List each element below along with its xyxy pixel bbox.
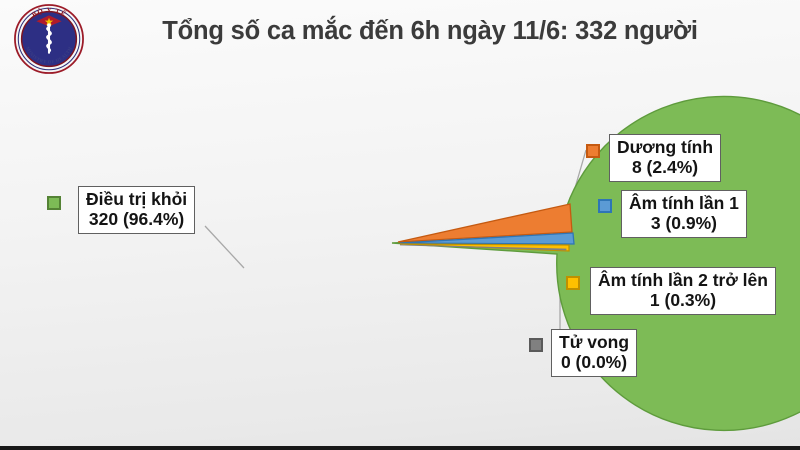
legend-swatch-tu-vong [529, 338, 543, 352]
chart-screenshot: BỘ Y TẾ MINISTRY OF HEALTH Tổng số ca mắ… [0, 0, 800, 450]
callout-value-am-tinh-lan-1: 3 (0.9%) [629, 213, 739, 233]
callout-value-tu-vong: 0 (0.0%) [559, 352, 629, 372]
callout-label-duong-tinh: Dương tính [617, 137, 713, 157]
legend-swatch-dieu-tri-khoi [47, 196, 61, 210]
callout-value-dieu-tri-khoi: 320 (96.4%) [86, 209, 187, 229]
callout-value-am-tinh-lan-2: 1 (0.3%) [598, 290, 768, 310]
callout-am-tinh-lan-1[interactable]: Âm tính lần 1 3 (0.9%) [621, 190, 747, 238]
callout-am-tinh-lan-2[interactable]: Âm tính lần 2 trở lên 1 (0.3%) [590, 267, 776, 315]
callout-dieu-tri-khoi[interactable]: Điều trị khỏi 320 (96.4%) [78, 186, 195, 234]
callout-value-duong-tinh: 8 (2.4%) [617, 157, 713, 177]
callout-label-am-tinh-lan-2: Âm tính lần 2 trở lên [598, 270, 768, 290]
leader-line-green [205, 226, 244, 268]
callout-label-dieu-tri-khoi: Điều trị khỏi [86, 189, 187, 209]
callout-label-tu-vong: Tử vong [559, 332, 629, 352]
callout-label-am-tinh-lan-1: Âm tính lần 1 [629, 193, 739, 213]
callout-duong-tinh[interactable]: Dương tính 8 (2.4%) [609, 134, 721, 182]
legend-swatch-am-tinh-lan-1 [598, 199, 612, 213]
legend-swatch-duong-tinh [586, 144, 600, 158]
legend-swatch-am-tinh-lan-2 [566, 276, 580, 290]
callout-tu-vong[interactable]: Tử vong 0 (0.0%) [551, 329, 637, 377]
